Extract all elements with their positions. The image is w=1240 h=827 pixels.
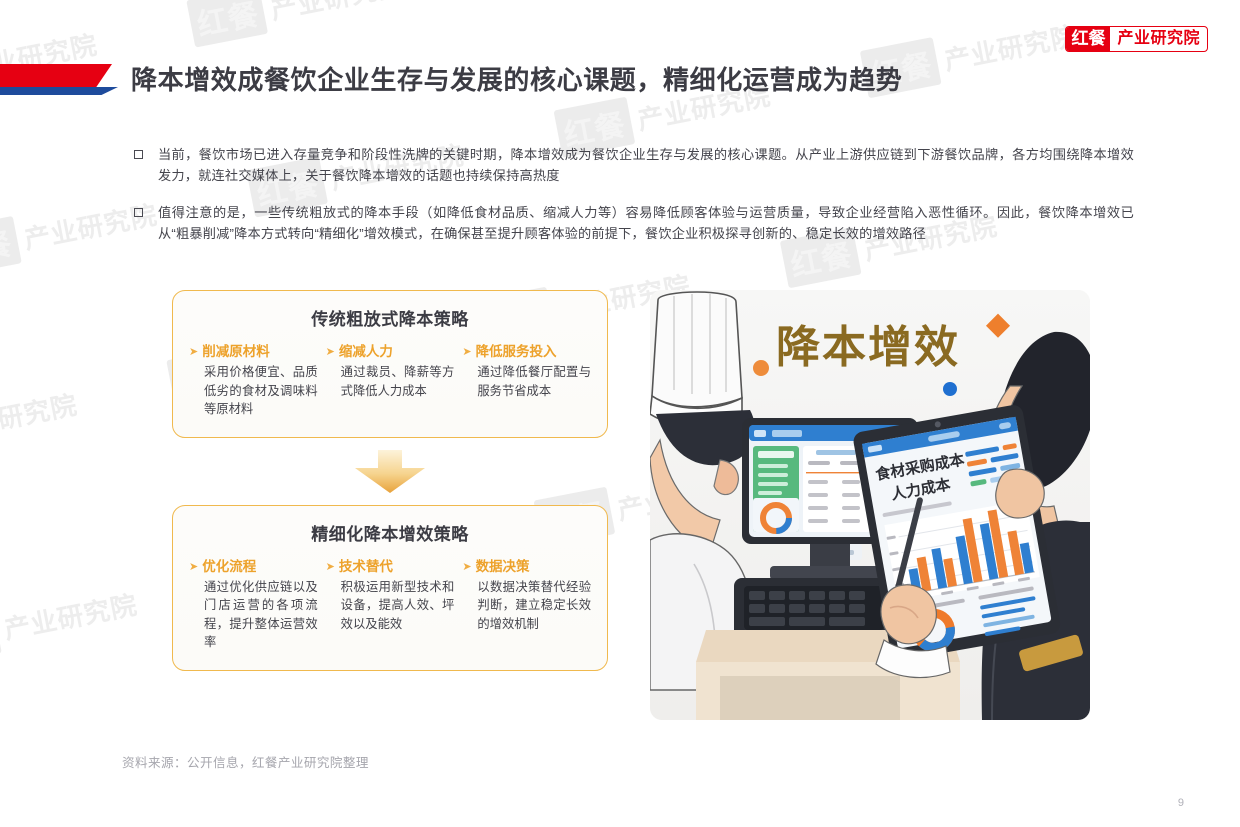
strategy-item-head: ➤ 技术替代 bbox=[326, 559, 455, 575]
strategy-item-body: 积极运用新型技术和设备，提高人效、坪效以及能效 bbox=[326, 578, 455, 634]
strategy-item: ➤ 缩减人力 通过裁员、降薪等方式降低人力成本 bbox=[326, 344, 455, 419]
bullet-text: 当前，餐饮市场已进入存量竞争和阶段性洗牌的关键时期，降本增效成为餐饮企业生存与发… bbox=[158, 144, 1134, 186]
chevron-right-icon: ➤ bbox=[462, 559, 471, 575]
chevron-right-icon: ➤ bbox=[326, 559, 335, 575]
page-number: 9 bbox=[1178, 797, 1184, 809]
box-title: 精细化降本增效策略 bbox=[189, 520, 591, 545]
slide-root: 红餐产业研究院 红餐产业研究院 红餐产业研究院 红餐产业研究院 红餐产业研究院 … bbox=[0, 0, 1240, 827]
box-columns: ➤ 削减原材料 采用价格便宜、品质低劣的食材及调味料等原材料 ➤ 缩减人力 通过… bbox=[189, 344, 591, 419]
strategy-item-title: 缩减人力 bbox=[339, 344, 393, 360]
watermark-mark: 红餐 bbox=[0, 216, 22, 277]
content-area: 传统粗放式降本策略 ➤ 削减原材料 采用价格便宜、品质低劣的食材及调味料等原材料… bbox=[0, 290, 1240, 730]
strategy-item: ➤ 降低服务投入 通过降低餐厅配置与服务节省成本 bbox=[462, 344, 591, 419]
illustration-image: 降本增效 bbox=[650, 290, 1090, 720]
strategy-item-title: 降低服务投入 bbox=[476, 344, 557, 360]
chevron-right-icon: ➤ bbox=[189, 344, 198, 360]
bullet-list: 当前，餐饮市场已进入存量竞争和阶段性洗牌的关键时期，降本增效成为餐饮企业生存与发… bbox=[134, 144, 1134, 260]
title-row: 降本增效成餐饮企业生存与发展的核心课题，精细化运营成为趋势 bbox=[0, 64, 1240, 108]
chevron-right-icon: ➤ bbox=[189, 559, 198, 575]
strategy-item-title: 优化流程 bbox=[202, 559, 256, 575]
strategy-item-title: 技术替代 bbox=[339, 559, 393, 575]
bullet-item: 当前，餐饮市场已进入存量竞争和阶段性洗牌的关键时期，降本增效成为餐饮企业生存与发… bbox=[134, 144, 1134, 186]
strategy-column: 传统粗放式降本策略 ➤ 削减原材料 采用价格便宜、品质低劣的食材及调味料等原材料… bbox=[172, 290, 608, 671]
box-title: 传统粗放式降本策略 bbox=[189, 305, 591, 330]
watermark-mark: 红餐 bbox=[187, 0, 269, 47]
traditional-strategy-box: 传统粗放式降本策略 ➤ 削减原材料 采用价格便宜、品质低劣的食材及调味料等原材料… bbox=[172, 290, 608, 438]
illustration-panel: 降本增效 bbox=[650, 290, 1090, 720]
page-title: 降本增效成餐饮企业生存与发展的核心课题，精细化运营成为趋势 bbox=[131, 60, 902, 97]
illustration-headline: 降本增效 bbox=[776, 323, 960, 372]
decoration-red-bar bbox=[0, 64, 112, 87]
brand-logo-mark: 红餐 bbox=[1066, 27, 1110, 51]
strategy-item-head: ➤ 数据决策 bbox=[462, 559, 591, 575]
strategy-item-head: ➤ 优化流程 bbox=[189, 559, 318, 575]
strategy-item: ➤ 优化流程 通过优化供应链以及门店运营的各项流程，提升整体运营效率 bbox=[189, 559, 318, 652]
strategy-item-head: ➤ 缩减人力 bbox=[326, 344, 455, 360]
square-bullet-icon bbox=[134, 144, 158, 186]
bullet-text: 值得注意的是，一些传统粗放式的降本手段（如降低食材品质、缩减人力等）容易降低顾客… bbox=[158, 202, 1134, 244]
strategy-item-body: 通过裁员、降薪等方式降低人力成本 bbox=[326, 363, 455, 400]
strategy-item-body: 通过优化供应链以及门店运营的各项流程，提升整体运营效率 bbox=[189, 578, 318, 652]
brand-logo-word: 产业研究院 bbox=[1110, 27, 1207, 51]
strategy-item: ➤ 削减原材料 采用价格便宜、品质低劣的食材及调味料等原材料 bbox=[189, 344, 318, 419]
strategy-item-head: ➤ 削减原材料 bbox=[189, 344, 318, 360]
refined-strategy-box: 精细化降本增效策略 ➤ 优化流程 通过优化供应链以及门店运营的各项流程，提升整体… bbox=[172, 505, 608, 671]
watermark-word: 产业研究院 bbox=[267, 0, 407, 27]
box-columns: ➤ 优化流程 通过优化供应链以及门店运营的各项流程，提升整体运营效率 ➤ 技术替… bbox=[189, 559, 591, 652]
dot-accent bbox=[753, 360, 769, 376]
dot-accent bbox=[943, 382, 957, 396]
strategy-item-body: 采用价格便宜、品质低劣的食材及调味料等原材料 bbox=[189, 363, 318, 419]
brand-logo: 红餐 产业研究院 bbox=[1065, 26, 1208, 52]
strategy-item-head: ➤ 降低服务投入 bbox=[462, 344, 591, 360]
chevron-right-icon: ➤ bbox=[462, 344, 471, 360]
bullet-item: 值得注意的是，一些传统粗放式的降本手段（如降低食材品质、缩减人力等）容易降低顾客… bbox=[134, 202, 1134, 244]
down-arrow-icon bbox=[353, 450, 427, 494]
decoration-blue-bar bbox=[0, 87, 118, 95]
square-bullet-icon bbox=[134, 202, 158, 244]
chevron-right-icon: ➤ bbox=[326, 344, 335, 360]
strategy-item: ➤ 数据决策 以数据决策替代经验判断，建立稳定长效的增效机制 bbox=[462, 559, 591, 652]
strategy-item-title: 数据决策 bbox=[476, 559, 530, 575]
strategy-item: ➤ 技术替代 积极运用新型技术和设备，提高人效、坪效以及能效 bbox=[326, 559, 455, 652]
strategy-item-body: 通过降低餐厅配置与服务节省成本 bbox=[462, 363, 591, 400]
title-decoration bbox=[0, 64, 118, 100]
strategy-item-body: 以数据决策替代经验判断，建立稳定长效的增效机制 bbox=[462, 578, 591, 634]
transition-arrow-wrap bbox=[172, 438, 608, 505]
source-note: 资料来源：公开信息，红餐产业研究院整理 bbox=[122, 752, 369, 771]
strategy-item-title: 削减原材料 bbox=[202, 344, 270, 360]
